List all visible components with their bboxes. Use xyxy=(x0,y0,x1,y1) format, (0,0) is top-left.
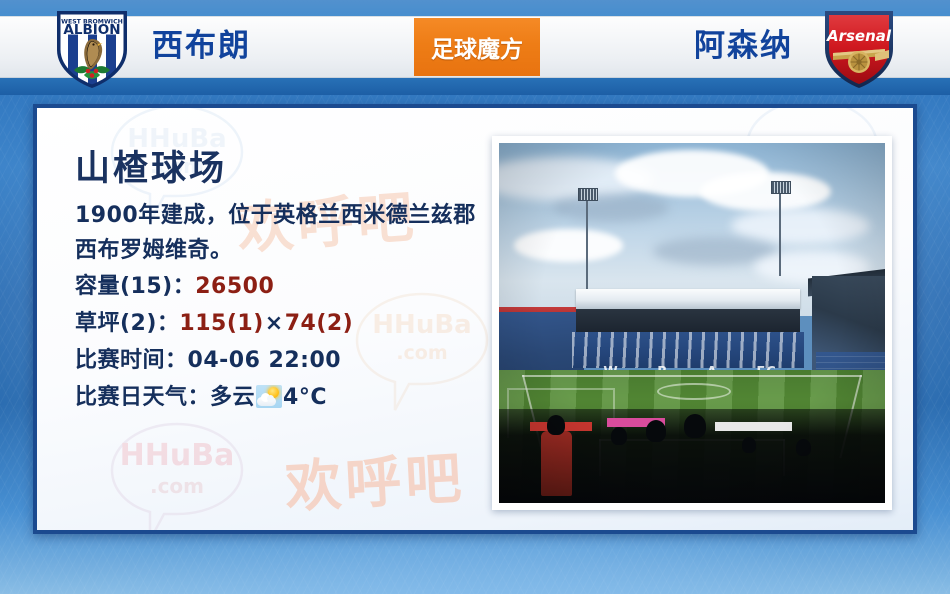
center-circle xyxy=(657,383,730,400)
stadium-info-panel: HHuBa .com .com HHuBa .com HHuBa .com 欢呼… xyxy=(33,104,917,534)
watermark-domain-bottom: .com xyxy=(92,474,262,498)
match-weather-line: 比赛日天气：多云4°C xyxy=(75,379,495,416)
match-header: WEST BROMWICH ALBION xyxy=(0,0,950,95)
cloud-shape xyxy=(257,397,276,406)
spectator-head xyxy=(646,420,666,442)
stadium-description: 1900年建成，位于英格兰西米德兰兹郡西布罗姆维奇。 xyxy=(75,198,493,268)
floodlight-mast-left xyxy=(586,193,588,294)
capacity-label: 容量(15)： xyxy=(75,274,195,299)
cloud-c xyxy=(700,172,831,212)
stadium-photo-frame[interactable]: W B A FC xyxy=(492,136,892,510)
floodlight-head-left xyxy=(578,188,598,201)
away-team-name: 阿森纳 xyxy=(694,24,793,68)
home-team-name: 西布朗 xyxy=(152,24,251,68)
floodlight-head-right xyxy=(771,181,791,194)
home-team-crest[interactable]: WEST BROMWICH ALBION xyxy=(48,4,136,92)
home-crest-main-text: ALBION xyxy=(63,22,120,38)
advert-board-white xyxy=(715,422,792,431)
match-time-label: 比赛时间： xyxy=(75,348,188,373)
capacity-value: 26500 xyxy=(195,274,274,299)
main-stand-roof xyxy=(576,289,800,309)
away-team-crest[interactable]: Arsenal xyxy=(815,4,903,92)
spectator-red xyxy=(541,431,572,496)
weather-label: 比赛日天气： xyxy=(75,385,210,410)
match-time-line: 比赛时间：04-06 22:00 xyxy=(75,342,495,379)
pitch-size-line: 草坪(2)：115(1)×74(2) xyxy=(75,305,495,342)
watermark-latin-bottom: HHuBa xyxy=(92,438,262,473)
stadium-photo: W B A FC xyxy=(499,143,885,503)
spectator-head xyxy=(611,427,627,445)
main-stand-shade xyxy=(576,309,800,332)
site-logo[interactable]: 足球魔方 xyxy=(414,18,540,76)
cloud-f xyxy=(514,229,622,261)
pitch-line-far xyxy=(522,375,862,377)
spectator-head xyxy=(684,414,706,438)
match-time-value: 04-06 22:00 xyxy=(188,348,342,373)
capacity-line: 容量(15)：26500 xyxy=(75,268,495,305)
cloud-d xyxy=(553,193,669,222)
pitch-length-value: 115(1) xyxy=(179,311,263,336)
stadium-info-text: 山楂球场 1900年建成，位于英格兰西米德兰兹郡西布罗姆维奇。 容量(15)：2… xyxy=(75,146,495,416)
sun-behind-cloud-icon xyxy=(256,385,282,408)
pitch-label: 草坪(2)： xyxy=(75,311,179,336)
site-logo-text: 足球魔方 xyxy=(431,30,523,64)
spectator-head xyxy=(796,439,811,456)
spectator-head xyxy=(547,415,565,435)
watermark-brand-cn-bottom: 欢呼吧 xyxy=(283,433,467,523)
weather-temperature: 4°C xyxy=(283,385,327,410)
spectator-head xyxy=(742,437,756,453)
pitch-dimension-separator: × xyxy=(264,311,285,336)
cloud-e xyxy=(731,208,870,244)
stadium-title: 山楂球场 xyxy=(75,146,495,192)
weather-condition: 多云 xyxy=(210,385,255,410)
screenshot-root: WEST BROMWICH ALBION xyxy=(0,0,950,594)
watermark-bubble-bottom: HHuBa .com xyxy=(92,418,262,534)
away-crest-text: Arsenal xyxy=(826,27,892,45)
floodlight-mast-right xyxy=(779,186,781,276)
pitch-width-value: 74(2) xyxy=(285,311,354,336)
